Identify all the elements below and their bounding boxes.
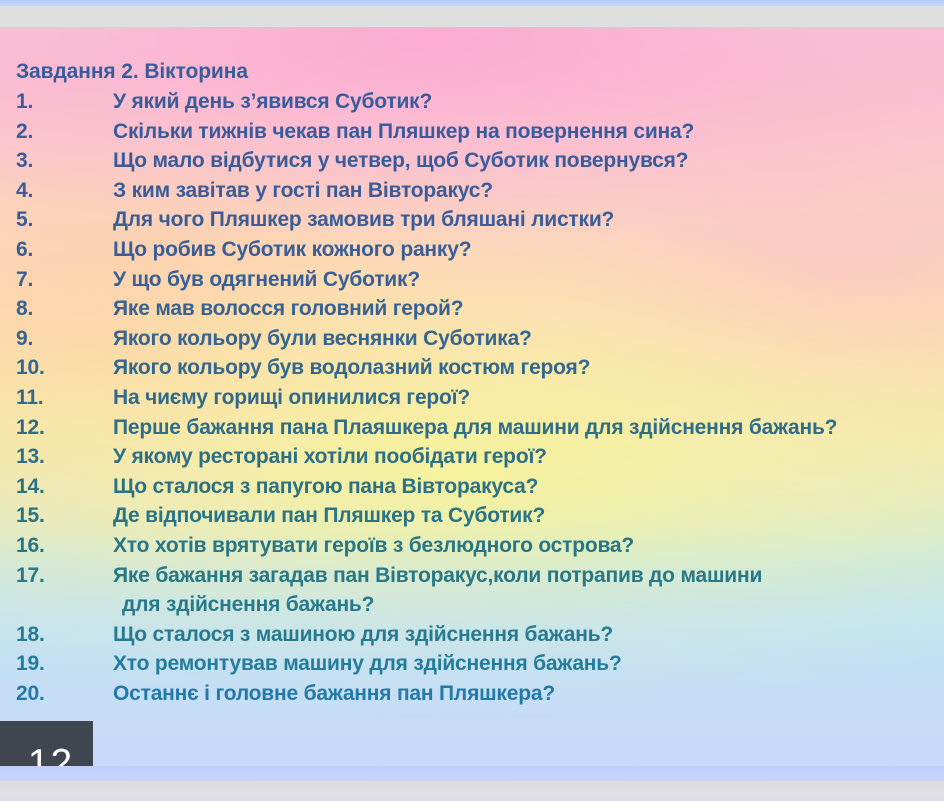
question-row: 16.Хто хотів врятувати героїв з безлюдно… <box>0 534 944 564</box>
question-number: 16. <box>16 534 45 558</box>
question-row: 14.Що сталося з папугою пана Вівторакуса… <box>0 475 944 505</box>
question-row: 5.Для чого Пляшкер замовив три бляшані л… <box>0 208 944 238</box>
question-text: Що сталося з машиною для здійснення бажа… <box>113 623 613 647</box>
question-text: Останнє і головне бажання пан Пляшкера? <box>113 682 555 706</box>
page-number-value: 12 <box>20 732 73 767</box>
question-text: Хто ремонтував машину для здійснення баж… <box>113 652 622 676</box>
question-number: 5. <box>16 208 33 232</box>
question-number: 14. <box>16 475 45 499</box>
question-row: 8.Яке мав волосся головний герой? <box>0 297 944 327</box>
slide-content: Завдання 2. Вікторина 1.У який день з’яв… <box>0 27 944 766</box>
question-row: 11.На чиєму горищі опинилися герої? <box>0 386 944 416</box>
question-number: 9. <box>16 327 33 351</box>
question-text: Що мало відбутися у четвер, щоб Суботик … <box>113 149 688 173</box>
question-number: 15. <box>16 504 45 528</box>
question-row: 10.Якого кольору був водолазний костюм г… <box>0 356 944 386</box>
question-text: Яке бажання загадав пан Вівторакус,коли … <box>113 564 762 588</box>
viewer-top-toolbar-area <box>0 6 944 27</box>
question-text: У якому ресторані хотіли пообідати герої… <box>113 445 547 469</box>
question-row: 6.Що робив Суботик кожного ранку? <box>0 238 944 268</box>
question-number: 19. <box>16 652 45 676</box>
viewer-bottom-accent-bar <box>0 766 944 781</box>
question-text: Якого кольору були веснянки Суботика? <box>113 327 532 351</box>
question-text: Якого кольору був водолазний костюм геро… <box>113 356 590 380</box>
question-number: 12. <box>16 416 45 440</box>
question-text: На чиєму горищі опинилися герої? <box>113 386 470 410</box>
slide-viewer: Завдання 2. Вікторина 1.У який день з’яв… <box>0 0 944 801</box>
question-row: 12.Перше бажання пана Плаяшкера для маши… <box>0 416 944 446</box>
question-text: Що робив Суботик кожного ранку? <box>113 238 471 262</box>
question-number: 7. <box>16 268 33 292</box>
question-text: З ким завітав у гості пан Вівторакус? <box>113 179 493 203</box>
question-row: 20.Останнє і головне бажання пан Пляшкер… <box>0 682 944 712</box>
question-number: 2. <box>16 120 33 144</box>
question-text: Що сталося з папугою пана Вівторакуса? <box>113 475 538 499</box>
question-number: 1. <box>16 90 33 114</box>
question-text: Перше бажання пана Плаяшкера для машини … <box>113 416 837 440</box>
question-row: 9.Якого кольору були веснянки Суботика? <box>0 327 944 357</box>
question-text: Скільки тижнів чекав пан Пляшкер на пове… <box>113 120 694 144</box>
question-row: 2.Скільки тижнів чекав пан Пляшкер на по… <box>0 120 944 150</box>
question-number: 4. <box>16 179 33 203</box>
viewer-bottom-bar <box>0 781 944 801</box>
question-number: 8. <box>16 297 33 321</box>
question-row: 19.Хто ремонтував машину для здійснення … <box>0 652 944 682</box>
question-number: 10. <box>16 356 45 380</box>
question-text: У що був одягнений Суботик? <box>113 268 420 292</box>
question-row: 4.З ким завітав у гості пан Вівторакус? <box>0 179 944 209</box>
slide-heading: Завдання 2. Вікторина <box>16 60 248 84</box>
question-text: Де відпочивали пан Пляшкер та Суботик? <box>113 504 545 528</box>
question-text-continuation: для здійснення бажань? <box>122 593 374 617</box>
question-row: 13.У якому ресторані хотіли пообідати ге… <box>0 445 944 475</box>
question-row: 1.У який день з’явився Суботик? <box>0 90 944 120</box>
question-number: 3. <box>16 149 33 173</box>
question-number: 6. <box>16 238 33 262</box>
page-number-badge: 12 <box>0 721 93 766</box>
slide-canvas: Завдання 2. Вікторина 1.У який день з’яв… <box>0 27 944 766</box>
question-row: 3.Що мало відбутися у четвер, щоб Суботи… <box>0 149 944 179</box>
question-row: 15.Де відпочивали пан Пляшкер та Суботик… <box>0 504 944 534</box>
question-text: Яке мав волосся головний герой? <box>113 297 463 321</box>
question-number: 17. <box>16 564 45 588</box>
question-text: У який день з’явився Суботик? <box>113 90 432 114</box>
question-number: 20. <box>16 682 45 706</box>
question-list: 1.У який день з’явився Суботик?2.Скільки… <box>0 90 944 711</box>
question-row: 18.Що сталося з машиною для здійснення б… <box>0 623 944 653</box>
question-row: 17.Яке бажання загадав пан Вівторакус,ко… <box>0 564 944 594</box>
question-number: 13. <box>16 445 45 469</box>
question-row: для здійснення бажань? <box>0 593 944 623</box>
question-text: Хто хотів врятувати героїв з безлюдного … <box>113 534 634 558</box>
question-text: Для чого Пляшкер замовив три бляшані лис… <box>113 208 614 232</box>
question-number: 18. <box>16 623 45 647</box>
question-number: 11. <box>16 386 43 410</box>
question-row: 7.У що був одягнений Суботик? <box>0 268 944 298</box>
